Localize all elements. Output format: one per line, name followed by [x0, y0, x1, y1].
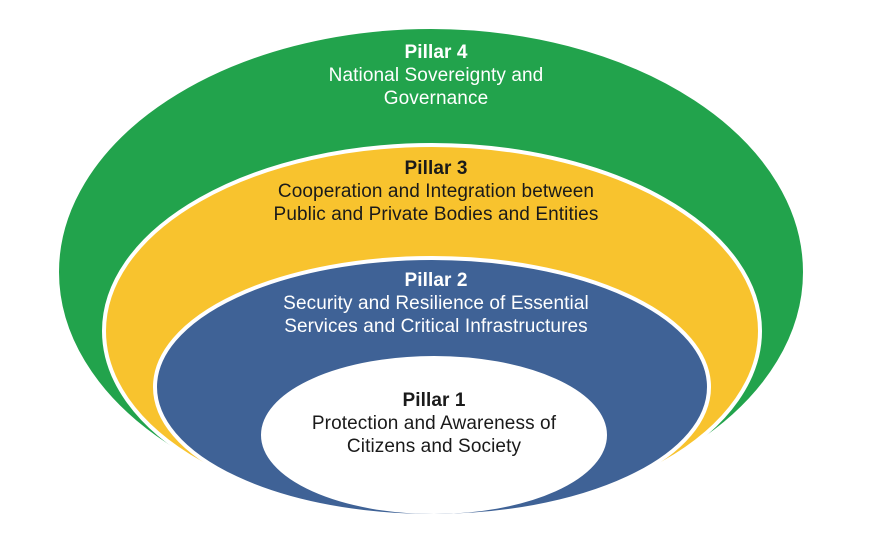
- pillar-1-title: Pillar 1: [254, 390, 614, 412]
- pillar-2-title: Pillar 2: [216, 270, 656, 292]
- pillar-1-description-line-2: Citizens and Society: [254, 436, 614, 458]
- pillar-3-description-line-1: Cooperation and Integration between: [196, 181, 676, 203]
- pillar-3-title: Pillar 3: [196, 158, 676, 180]
- pillar-4-description-line-1: National Sovereignty and: [236, 65, 636, 87]
- pillar-3-label: Pillar 3 Cooperation and Integration bet…: [196, 158, 676, 226]
- pillars-diagram: Pillar 4 National Sovereignty and Govern…: [0, 0, 873, 550]
- pillar-2-description-line-2: Services and Critical Infrastructures: [216, 316, 656, 338]
- pillar-4-title: Pillar 4: [236, 42, 636, 64]
- pillar-1-label: Pillar 1 Protection and Awareness of Cit…: [254, 390, 614, 458]
- pillar-2-description-line-1: Security and Resilience of Essential: [216, 293, 656, 315]
- pillar-4-label: Pillar 4 National Sovereignty and Govern…: [236, 42, 636, 110]
- pillar-4-description-line-2: Governance: [236, 88, 636, 110]
- pillar-3-description-line-2: Public and Private Bodies and Entities: [196, 204, 676, 226]
- pillar-2-label: Pillar 2 Security and Resilience of Esse…: [216, 270, 656, 338]
- pillar-1-description-line-1: Protection and Awareness of: [254, 413, 614, 435]
